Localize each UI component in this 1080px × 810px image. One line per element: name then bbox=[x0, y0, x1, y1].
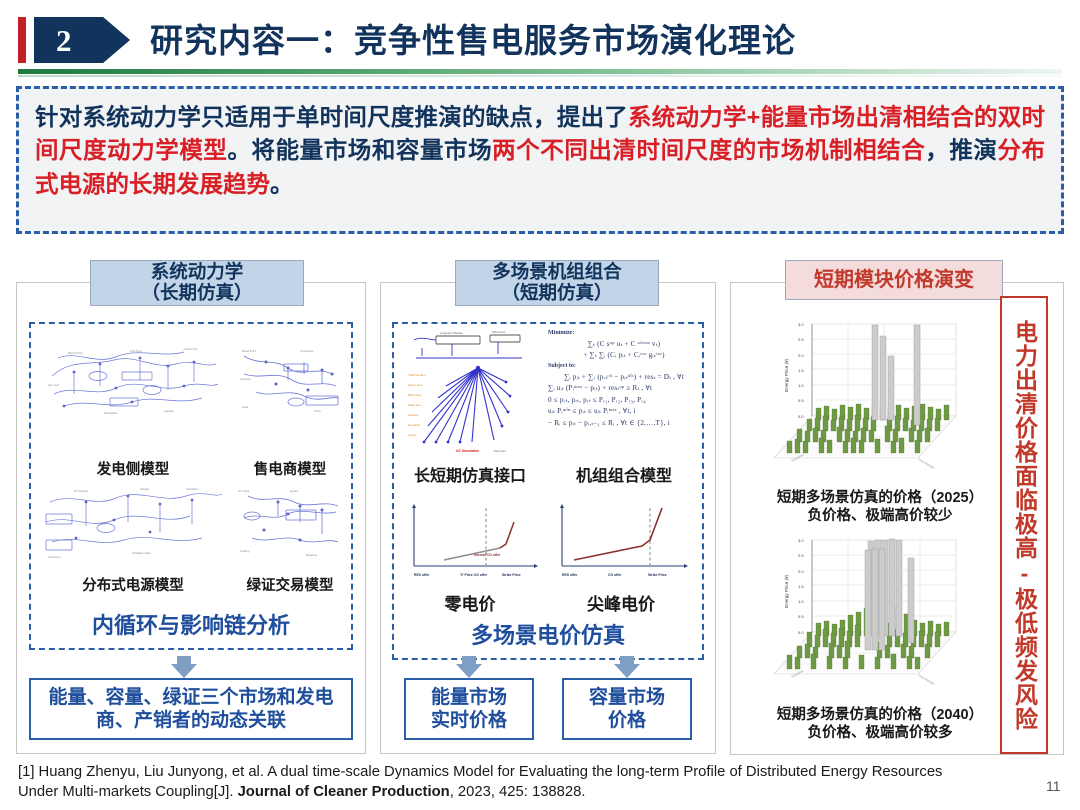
svg-text:Load: Load bbox=[242, 405, 249, 409]
svg-text:Contract: Contract bbox=[240, 377, 251, 381]
panel1-header-line1: 系统动力学 bbox=[151, 262, 244, 283]
svg-text:Investment: Investment bbox=[48, 555, 61, 559]
slide-header: 2 研究内容一：竞争性售电服务市场演化理论 bbox=[0, 0, 1080, 80]
svg-text:Subsidy: Subsidy bbox=[140, 487, 150, 491]
diagram-simulation-interface: Thermal GenHydro GenWind Gen Solar GenSt… bbox=[406, 330, 532, 458]
panel1-header-line2: （长期仿真） bbox=[141, 283, 252, 304]
svg-text:Energy Price (¥): Energy Price (¥) bbox=[784, 358, 789, 392]
chart-2025-subtitle: 负价格、极端高价较少 bbox=[740, 507, 1020, 525]
callout-seg-3: 。将能量市场和容量市场 bbox=[228, 137, 493, 163]
header-divider-green bbox=[18, 69, 1062, 74]
svg-text:Carbon Tax: Carbon Tax bbox=[184, 347, 198, 351]
callout-seg-4: 两个不同出清时间尺度的市场机制相结合 bbox=[492, 137, 925, 163]
panel1-footer-label: 内循环与影响链分析 bbox=[29, 608, 353, 640]
svg-text:Strike Price: Strike Price bbox=[502, 573, 521, 577]
panel2-thumb-caption-3: 尖峰电价 bbox=[550, 590, 692, 615]
svg-text:1.0: 1.0 bbox=[798, 383, 804, 388]
svg-text:Strike Price: Strike Price bbox=[648, 573, 667, 577]
svg-text:Storage: Storage bbox=[408, 413, 419, 417]
panel1-thumb-caption-2: 分布式电源模型 bbox=[40, 574, 226, 595]
svg-text:Installation Rate: Installation Rate bbox=[132, 551, 151, 555]
svg-text:0.5: 0.5 bbox=[798, 398, 804, 403]
svg-text:Normal CG offer: Normal CG offer bbox=[474, 553, 501, 557]
panel2-header: 多场景机组组合 （短期仿真） bbox=[455, 260, 659, 306]
svg-text:Gen Cost: Gen Cost bbox=[48, 383, 59, 387]
reference-journal-name: Journal of Cleaner Production bbox=[238, 784, 450, 800]
chart-zero-price-supply-curve: RES offer'0' Price CG offerStrike Price … bbox=[402, 498, 542, 586]
page-title: 研究内容一：竞争性售电服务市场演化理论 bbox=[150, 14, 796, 62]
svg-text:2.0: 2.0 bbox=[798, 569, 804, 574]
formula-minimize-label: Minimize: bbox=[548, 330, 700, 336]
svg-text:CG offer: CG offer bbox=[608, 573, 622, 577]
chart-2025-title: 短期多场景仿真的价格（2025） bbox=[740, 489, 1020, 507]
svg-text:0.5: 0.5 bbox=[798, 614, 804, 619]
svg-text:Energy Price (¥): Energy Price (¥) bbox=[784, 574, 789, 608]
svg-text:'0' Price CG offer: '0' Price CG offer bbox=[460, 573, 488, 577]
diagram-green-certificate-model: GC PriceQuotaTrading Revenue bbox=[234, 482, 346, 560]
panel2-header-line2: （短期仿真） bbox=[501, 283, 612, 304]
summary-callout-box: 针对系统动力学只适用于单时间尺度推演的缺点，提出了系统动力学+能量市场出清相结合… bbox=[16, 86, 1064, 234]
section-number-badge: 2 bbox=[34, 17, 130, 63]
chart-peak-price-supply-curve: RES offerCG offerStrike Price bbox=[550, 498, 692, 586]
svg-text:PV Capacity: PV Capacity bbox=[74, 489, 89, 493]
panel2-header-line1: 多场景机组组合 bbox=[492, 262, 622, 283]
formula-constraint-2: ∑ᵢ uᵢₜ (Pᵢᵐᵃˣ − pᵢₜ) + resₜᵘᵖ ≥ Rₜ , ∀t bbox=[548, 383, 700, 392]
diagram-generation-side-model: Market PriceCO2 PriceCarbon Tax Gen Cost… bbox=[44, 336, 222, 420]
svg-text:RES offer: RES offer bbox=[414, 573, 430, 577]
svg-text:Renewable: Renewable bbox=[104, 411, 118, 415]
svg-text:Short-term: Short-term bbox=[492, 330, 506, 334]
risk-banner: 电力出清价格面临极高-极低频发风险 bbox=[1000, 296, 1048, 754]
chart-2040-title: 短期多场景仿真的价格（2040） bbox=[740, 706, 1020, 724]
svg-text:Profit: Profit bbox=[314, 409, 321, 413]
res2-line1: 能量市场 bbox=[431, 686, 507, 709]
header-divider-green-thin bbox=[18, 75, 1062, 77]
panel1-thumb-caption-1: 售电商模型 bbox=[228, 458, 352, 479]
formula-subject-label: Subject to: bbox=[548, 363, 700, 369]
svg-text:0.0: 0.0 bbox=[798, 414, 804, 419]
svg-text:Solar Gen: Solar Gen bbox=[408, 403, 422, 407]
svg-text:Thermal Gen: Thermal Gen bbox=[408, 373, 426, 377]
svg-text:Customers: Customers bbox=[300, 349, 314, 353]
panel2-result-box-capacity-market: 容量市场 价格 bbox=[562, 678, 692, 740]
diagram-retailer-model: Retail PriceCustomersContract LoadProfit bbox=[236, 340, 344, 418]
panel2-thumb-caption-2: 零电价 bbox=[400, 590, 540, 615]
panel1-header: 系统动力学 （长期仿真） bbox=[90, 260, 304, 306]
formula-constraint-4: uᵢₜ Pᵢᵐⁱⁿ ≤ pᵢₜ ≤ uᵢₜ Pᵢᵐᵃˣ , ∀t, i bbox=[548, 406, 700, 415]
svg-text:3.0: 3.0 bbox=[798, 538, 804, 543]
svg-text:Quota: Quota bbox=[290, 489, 298, 493]
svg-text:2.5: 2.5 bbox=[798, 553, 804, 558]
svg-text:RES offer: RES offer bbox=[562, 573, 578, 577]
svg-text:Market Price: Market Price bbox=[68, 351, 83, 355]
svg-text:Retail Price: Retail Price bbox=[242, 349, 257, 353]
svg-text:Trading: Trading bbox=[240, 549, 250, 553]
svg-text:Grid Parity: Grid Parity bbox=[186, 487, 199, 491]
callout-seg-1: 针对系统动力学只适用于单时间尺度推演的缺点，提出了 bbox=[35, 104, 628, 130]
formula-constraint-1: ∑ᵢ pᵢₜ + ∑ᵣ (pᵣₜᶜʰ − pᵣₜᵈⁱˢ) + resₜ = Dₜ… bbox=[548, 372, 700, 381]
res3-line1: 容量市场 bbox=[589, 686, 665, 709]
svg-text:Import: Import bbox=[408, 433, 417, 437]
formula-line-2: + ∑ₜ ∑ᵢ (Cᵢ pᵢₜ + Cᵢᶜᵘʳ gᵢₜᶜᵘʳ) bbox=[548, 350, 700, 359]
panel2-thumb-caption-1: 机组组合模型 bbox=[548, 462, 700, 486]
svg-text:2.5: 2.5 bbox=[798, 337, 804, 342]
panel2-result-box-energy-market: 能量市场 实时价格 bbox=[404, 678, 534, 740]
callout-seg-5: ，推演 bbox=[925, 137, 997, 163]
panel2-thumb-caption-0: 长短期仿真接口 bbox=[400, 462, 540, 486]
chart-2025-caption: 短期多场景仿真的价格（2025） 负价格、极端高价较少 bbox=[740, 489, 1020, 525]
svg-text:2.0: 2.0 bbox=[798, 353, 804, 358]
svg-text:1.5: 1.5 bbox=[798, 368, 804, 373]
svg-text:Price Out: Price Out bbox=[494, 449, 506, 453]
section-number-label: 2 bbox=[56, 25, 72, 56]
svg-text:1.5: 1.5 bbox=[798, 584, 804, 589]
svg-text:Hydro Gen: Hydro Gen bbox=[408, 383, 423, 387]
summary-callout-text: 针对系统动力学只适用于单时间尺度推演的缺点，提出了系统动力学+能量市场出清相结合… bbox=[19, 89, 1061, 201]
svg-text:UC Simulation: UC Simulation bbox=[456, 449, 479, 453]
reference-text-part2: , 2023, 425: 138828. bbox=[450, 784, 586, 800]
svg-text:1.0: 1.0 bbox=[798, 599, 804, 604]
chart-3d-price-2040: 3.02.52.0 1.51.00.5 0.0 Energy Price (¥) bbox=[768, 528, 992, 700]
page-number: 11 bbox=[1046, 778, 1061, 794]
res3-line2: 价格 bbox=[589, 709, 665, 732]
res2-line2: 实时价格 bbox=[431, 709, 507, 732]
svg-text:Revenue: Revenue bbox=[306, 553, 318, 557]
svg-text:Time Periods: Time Periods bbox=[918, 457, 936, 469]
formula-constraint-3: 0 ≤ pᵣₜ, pᵣₜ, pᵣₜ ≤ Pᵣ₁, Pᵣ₂, Pᵣ₃, Pᵣ₄ bbox=[548, 395, 700, 404]
formula-line-1: ∑ₜ (C sᵘᵖ uₜ + C ˢᵈᵒʷⁿ vₜ) bbox=[548, 339, 700, 348]
callout-seg-7: 。 bbox=[270, 171, 294, 197]
svg-text:CO2 Price: CO2 Price bbox=[130, 349, 143, 353]
formula-constraint-5: − Rᵢ ≤ pᵢₜ − pᵢ,ₜ₋₁ ≤ Rᵢ , ∀t ∈ {2,…,T},… bbox=[548, 418, 700, 427]
unit-commitment-formula: Minimize: ∑ₜ (C sᵘᵖ uₜ + C ˢᵈᵒʷⁿ vₜ) + ∑… bbox=[548, 330, 700, 458]
panel2-footer-label: 多场景电价仿真 bbox=[392, 618, 704, 650]
chart-3d-price-2025: 3.02.52.0 1.51.00.5 0.0 Energy Price (¥) bbox=[768, 312, 992, 484]
risk-banner-text: 电力出清价格面临极高-极低频发风险 bbox=[1013, 320, 1036, 731]
panel1-thumb-caption-3: 绿证交易模型 bbox=[230, 574, 350, 595]
svg-text:GC Price: GC Price bbox=[238, 489, 250, 493]
diagram-distributed-energy-model: PV CapacitySubsidyGrid Parity Installati… bbox=[40, 482, 226, 560]
svg-text:3.0: 3.0 bbox=[798, 322, 804, 327]
header-red-accent-bar bbox=[18, 17, 26, 63]
panel3-header: 短期模块价格演变 bbox=[785, 260, 1003, 300]
reference-footer: [1] Huang Zhenyu, Liu Junyong, et al. A … bbox=[18, 762, 978, 803]
svg-text:0.0: 0.0 bbox=[798, 630, 804, 635]
chart-2040-caption: 短期多场景仿真的价格（2040） 负价格、极端高价较多 bbox=[740, 706, 1020, 742]
chart-2040-subtitle: 负价格、极端高价较多 bbox=[740, 724, 1020, 742]
svg-text:Long-term Module: Long-term Module bbox=[440, 331, 463, 335]
svg-text:Wind Gen: Wind Gen bbox=[408, 393, 422, 397]
svg-text:Demand: Demand bbox=[408, 423, 420, 427]
panel1-thumb-caption-0: 发电侧模型 bbox=[44, 458, 222, 479]
panel1-result-box: 能量、容量、绿证三个市场和发电商、产销者的动态关联 bbox=[29, 678, 353, 740]
svg-text:Time Periods: Time Periods bbox=[918, 673, 936, 685]
svg-text:Capacity: Capacity bbox=[164, 409, 175, 413]
